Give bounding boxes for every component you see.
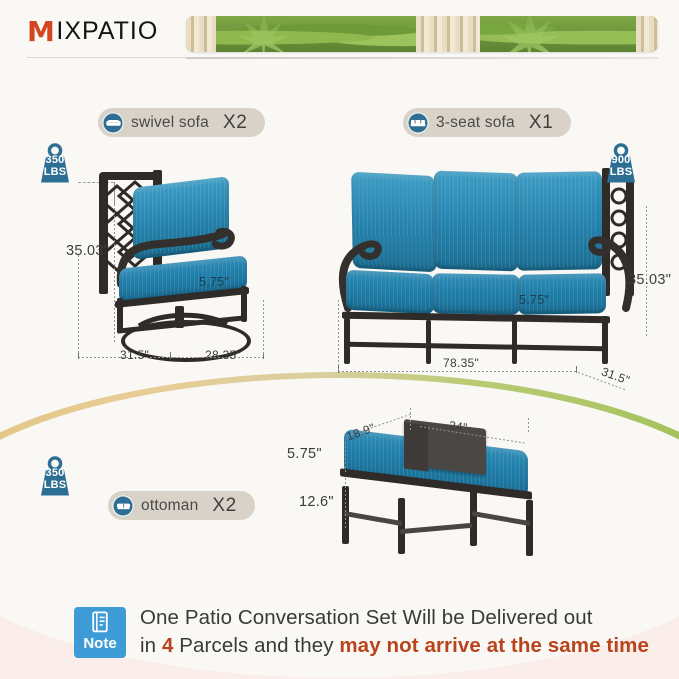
weight-unit: LBS xyxy=(599,167,643,179)
sofa-icon xyxy=(407,112,429,134)
note-line2-middle: Parcels and they xyxy=(173,634,339,657)
product-label-text: swivel sofa xyxy=(131,114,209,132)
curtain-decor xyxy=(636,16,658,52)
curtain-decor xyxy=(186,16,216,52)
swivel-sofa-illustration xyxy=(95,170,270,355)
weight-capacity-badge-three-seat-sofa: 900 LBS xyxy=(599,143,643,187)
armchair-icon xyxy=(102,112,124,134)
note-badge: Note xyxy=(74,607,126,658)
weight-unit: LBS xyxy=(33,167,77,179)
dim-sofa-height: 35.03" xyxy=(628,272,671,288)
header-banner-image xyxy=(186,16,658,52)
logo-initial-icon: M xyxy=(27,18,55,46)
dim-line-sofa-height xyxy=(646,206,647,336)
weight-capacity-badge-swivel-sofa: 350 LBS xyxy=(33,143,77,187)
dim-line-sofa-width xyxy=(338,371,576,372)
header-divider-left xyxy=(27,57,186,58)
dim-ottoman-cushion: 5.75" xyxy=(287,446,322,462)
logo-wordmark: IXPATIO xyxy=(56,17,158,46)
weight-badge-text: 900 LBS xyxy=(599,155,643,178)
product-label-swivel-sofa: swivel sofa X2 xyxy=(98,108,265,137)
weight-value: 350 xyxy=(33,155,77,167)
dim-ottoman-leg-height: 12.6" xyxy=(299,494,334,510)
weight-badge-text: 350 LBS xyxy=(33,155,77,178)
note-message: One Patio Conversation Set Will be Deliv… xyxy=(140,604,660,660)
note-warning-text: may not arrive at the same time xyxy=(339,634,649,657)
dim-line-swivel-height xyxy=(114,204,115,342)
dim-sofa-width: 78.35" xyxy=(443,356,479,370)
product-label-ottoman: ottoman X2 xyxy=(108,491,255,520)
dim-swivel-cushion: 5.75" xyxy=(199,275,229,289)
note-line-1: One Patio Conversation Set Will be Deliv… xyxy=(140,604,660,632)
dim-sofa-cushion: 5.75" xyxy=(519,293,549,307)
ottoman-illustration xyxy=(336,420,556,550)
infographic-canvas: MIXPATIO swivel sofa X2 3-seat sofa X1 xyxy=(0,0,679,679)
product-label-text: ottoman xyxy=(141,497,198,515)
dim-swivel-height: 35.03" xyxy=(66,243,109,259)
product-label-text: 3-seat sofa xyxy=(436,114,515,132)
product-quantity: X2 xyxy=(212,495,236,517)
ottoman-tray-shadow xyxy=(404,423,428,472)
header-divider xyxy=(186,57,658,59)
dim-swivel-width: 28.35" xyxy=(205,348,241,362)
product-quantity: X1 xyxy=(529,112,553,134)
page-header: MIXPATIO xyxy=(0,0,679,62)
brand-logo: MIXPATIO xyxy=(27,17,158,46)
document-icon xyxy=(91,611,109,633)
note-parcel-count: 4 xyxy=(162,634,174,657)
three-seat-sofa-illustration xyxy=(330,168,640,368)
weight-capacity-badge-ottoman: 350 LBS xyxy=(33,456,77,500)
note-badge-label: Note xyxy=(83,636,116,651)
weight-unit: LBS xyxy=(33,480,77,492)
dim-ottoman-width: 24" xyxy=(448,418,468,435)
note-line2-prefix: in xyxy=(140,634,162,657)
weight-value: 350 xyxy=(33,468,77,480)
curtain-decor xyxy=(416,16,480,52)
product-label-three-seat-sofa: 3-seat sofa X1 xyxy=(403,108,571,137)
ottoman-icon xyxy=(112,495,134,517)
dim-swivel-depth: 31.5" xyxy=(120,348,149,362)
weight-badge-text: 350 LBS xyxy=(33,468,77,491)
note-line-2: in 4 Parcels and they may not arrive at … xyxy=(140,632,660,660)
product-quantity: X2 xyxy=(223,112,247,134)
weight-value: 900 xyxy=(599,155,643,167)
